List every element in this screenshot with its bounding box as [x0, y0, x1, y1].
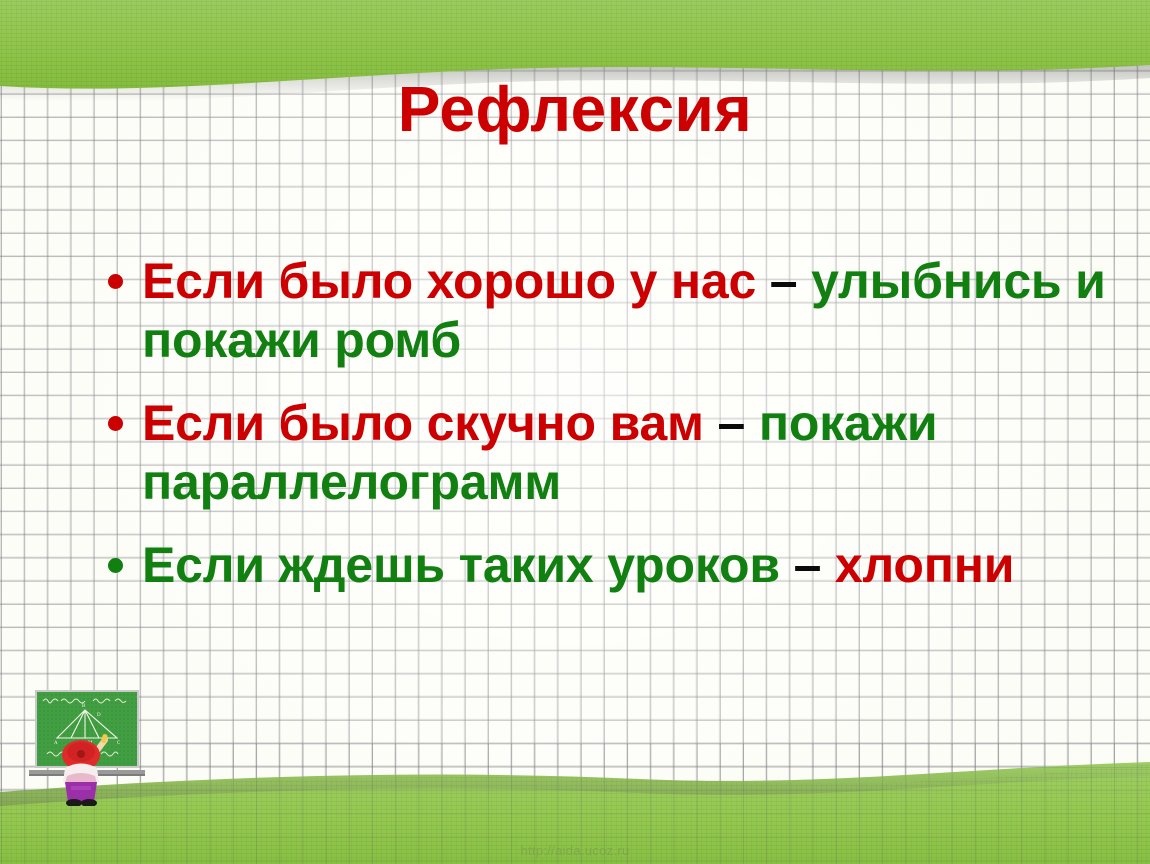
pupil-at-chalkboard-image: A B C M D: [27, 686, 155, 806]
bullet-dash: –: [770, 253, 811, 309]
bullet-dot-icon: [108, 274, 123, 289]
list-item: Если было скучно вам – покажи параллелог…: [108, 394, 1118, 512]
svg-text:A: A: [54, 741, 58, 746]
bullet-part-primary: Если было скучно вам: [142, 395, 718, 451]
bullet-dash: –: [794, 537, 835, 593]
bullet-part-primary: Если было хорошо у нас: [142, 253, 770, 309]
bullet-part-secondary: хлопни: [835, 537, 1014, 593]
svg-text:D: D: [97, 713, 101, 718]
page-title: Рефлексия: [0, 76, 1150, 143]
bullet-list: Если было хорошо у нас – улыбнись и пока…: [108, 252, 1118, 595]
list-item: Если было хорошо у нас – улыбнись и пока…: [108, 252, 1118, 370]
slide: Рефлексия Если было хорошо у нас – улыбн…: [0, 0, 1150, 864]
bullet-dot-icon: [108, 558, 123, 573]
bullet-dot-icon: [108, 416, 123, 431]
source-watermark: http://aida.ucoz.ru: [0, 843, 1150, 858]
bullet-text: Если было скучно вам – покажи параллелог…: [142, 394, 1118, 512]
bullet-part-primary: Если ждешь таких уроков: [142, 537, 794, 593]
bullet-dash: –: [718, 395, 759, 451]
bullet-text: Если было хорошо у нас – улыбнись и пока…: [142, 252, 1118, 370]
bullet-text: Если ждешь таких уроков – хлопни: [142, 536, 1118, 595]
list-item: Если ждешь таких уроков – хлопни: [108, 536, 1118, 595]
